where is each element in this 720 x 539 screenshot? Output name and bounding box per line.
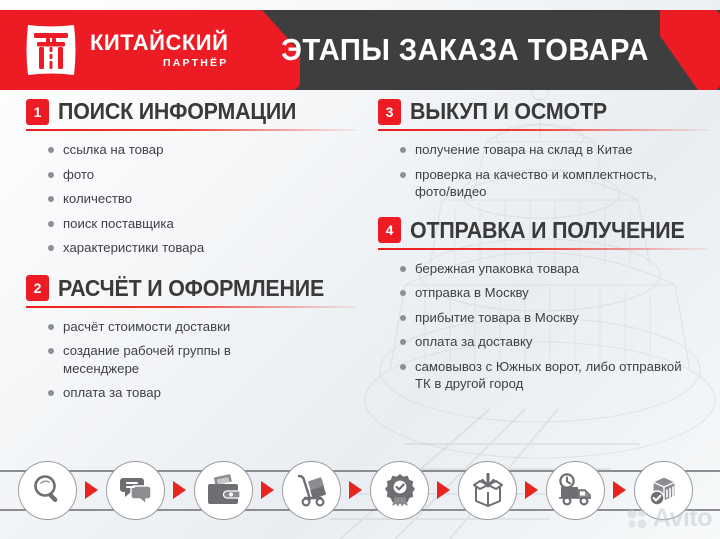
list-item: поиск поставщика [48, 215, 356, 233]
list-item: характеристики товара [48, 239, 356, 257]
list-item: отправка в Москву [400, 284, 708, 302]
logo-main-text: КИТАЙСКИЙ [90, 32, 228, 54]
infographic-poster: КИТАЙСКИЙ ПАРТНЁР ЭТАПЫ ЗАКАЗА ТОВАРА 1 … [0, 0, 720, 539]
brand-logo: КИТАЙСКИЙ ПАРТНЁР [22, 21, 228, 79]
right-column: 3 ВЫКУП И ОСМОТР получение товара на скл… [378, 98, 708, 405]
logo-sub-text: ПАРТНЁР [90, 58, 228, 69]
list-item: создание рабочей группы в месенджере [48, 342, 278, 377]
chinese-gate-logo-icon [22, 21, 80, 79]
chat-bubbles-icon [106, 461, 165, 520]
section-1-list: ссылка на товар фото количество поиск по… [26, 141, 356, 257]
list-item: количество [48, 190, 356, 208]
section-3-title: ВЫКУП И ОСМОТР [410, 98, 607, 125]
steps-columns: 1 ПОИСК ИНФОРМАЦИИ ссылка на товар фото … [0, 98, 720, 443]
page-title: ЭТАПЫ ЗАКАЗА ТОВАРА [268, 10, 663, 90]
section-3: 3 ВЫКУП И ОСМОТР получение товара на скл… [378, 98, 708, 201]
section-4-number: 4 [378, 217, 401, 243]
list-item: прибытие товара в Москву [400, 309, 708, 327]
left-column: 1 ПОИСК ИНФОРМАЦИИ ссылка на товар фото … [26, 98, 356, 414]
list-item: проверка на качество и комплектность, фо… [400, 166, 661, 201]
wallet-money-icon [194, 461, 253, 520]
red-arrow-icon [437, 481, 450, 499]
section-2-title: РАСЧЁТ И ОФОРМЛЕНИЕ [58, 275, 324, 302]
red-arrow-icon [173, 481, 186, 499]
list-item: оплата за товар [48, 384, 356, 402]
section-4-list: бережная упаковка товара отправка в Моск… [378, 260, 708, 393]
section-2-header: 2 РАСЧЁТ И ОФОРМЛЕНИЕ [26, 275, 356, 309]
red-arrow-icon [261, 481, 274, 499]
section-4-header: 4 ОТПРАВКА И ПОЛУЧЕНИЕ [378, 217, 708, 251]
list-item: оплата за доставку [400, 333, 708, 351]
list-item: бережная упаковка товара [400, 260, 708, 278]
list-item: расчёт стоимости доставки [48, 318, 356, 336]
package-check-icon [634, 461, 693, 520]
list-item: получение товара на склад в Китае [400, 141, 653, 159]
quality-badge-icon [370, 461, 429, 520]
section-2: 2 РАСЧЁТ И ОФОРМЛЕНИЕ расчёт стоимости д… [26, 275, 356, 402]
red-arrow-icon [525, 481, 538, 499]
red-arrow-icon [349, 481, 362, 499]
red-arrow-icon [85, 481, 98, 499]
box-packing-icon [458, 461, 517, 520]
section-3-header: 3 ВЫКУП И ОСМОТР [378, 98, 708, 132]
process-icons [18, 452, 708, 528]
process-strip [0, 452, 720, 539]
truck-clock-delivery-icon [546, 461, 605, 520]
section-2-number: 2 [26, 275, 49, 301]
section-3-list: получение товара на склад в Китае провер… [378, 141, 708, 201]
section-2-list: расчёт стоимости доставки создание рабоч… [26, 318, 356, 402]
section-1-title: ПОИСК ИНФОРМАЦИИ [58, 98, 296, 125]
section-1-header: 1 ПОИСК ИНФОРМАЦИИ [26, 98, 356, 132]
red-arrow-icon [613, 481, 626, 499]
poster-header: КИТАЙСКИЙ ПАРТНЁР ЭТАПЫ ЗАКАЗА ТОВАРА [0, 10, 720, 90]
list-item: ссылка на товар [48, 141, 356, 159]
section-4: 4 ОТПРАВКА И ПОЛУЧЕНИЕ бережная упаковка… [378, 217, 708, 393]
section-3-number: 3 [378, 99, 401, 125]
list-item: самовывоз с Южных ворот, либо отправкой … [400, 358, 687, 393]
section-4-title: ОТПРАВКА И ПОЛУЧЕНИЕ [410, 217, 685, 244]
list-item: фото [48, 166, 356, 184]
section-1-number: 1 [26, 99, 49, 125]
hand-truck-icon [282, 461, 341, 520]
magnifier-search-icon [18, 461, 77, 520]
section-1: 1 ПОИСК ИНФОРМАЦИИ ссылка на товар фото … [26, 98, 356, 257]
